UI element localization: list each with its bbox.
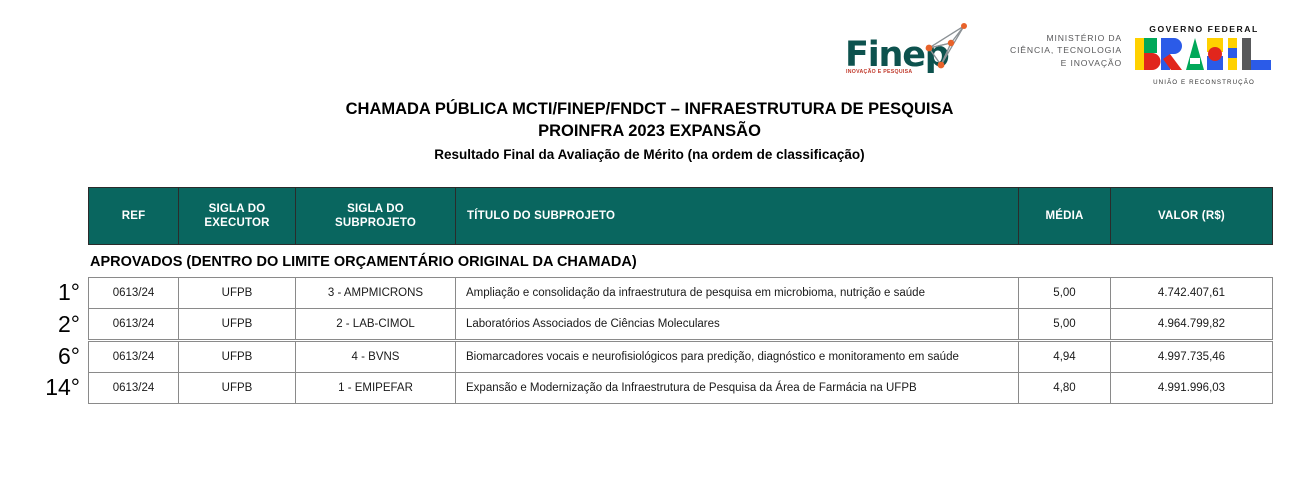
results-table-body: 0613/24UFPB3 - AMPMICRONSAmpliação e con… xyxy=(88,277,1272,404)
page-title: CHAMADA PÚBLICA MCTI/FINEP/FNDCT – INFRA… xyxy=(0,98,1299,120)
cell-executor: UFPB xyxy=(179,309,296,341)
cell-valor: 4.742.407,61 xyxy=(1111,278,1273,309)
cell-valor: 4.997.735,46 xyxy=(1111,341,1273,373)
ministerio-line-1: MINISTÉRIO DA xyxy=(1000,32,1122,44)
brasil-wordmark-icon xyxy=(1133,59,1275,76)
finep-logo: Finep INOVAÇÃO E PESQUISA xyxy=(845,22,965,80)
cell-titulo: Laboratórios Associados de Ciências Mole… xyxy=(456,309,1019,341)
column-header-subprojeto-line1: SIGLA DO xyxy=(302,202,449,216)
table-row[interactable]: 0613/24UFPB3 - AMPMICRONSAmpliação e con… xyxy=(89,278,1273,309)
cell-media: 4,80 xyxy=(1019,373,1111,404)
cell-media: 5,00 xyxy=(1019,309,1111,341)
cell-ref: 0613/24 xyxy=(89,309,179,341)
rank-label: 14° xyxy=(0,372,84,403)
page-subtitle: PROINFRA 2023 EXPANSÃO xyxy=(0,120,1299,142)
cell-titulo: Ampliação e consolidação da infraestrutu… xyxy=(456,278,1019,309)
rank-gutter: 1°2°6°14° xyxy=(0,277,84,403)
cell-ref: 0613/24 xyxy=(89,341,179,373)
table-row[interactable]: 0613/24UFPB1 - EMIPEFARExpansão e Modern… xyxy=(89,373,1273,404)
column-header-executor-line1: SIGLA DO xyxy=(185,202,289,216)
table-header-row: REF SIGLA DO EXECUTOR SIGLA DO SUBPROJET… xyxy=(88,187,1273,245)
rank-label: 2° xyxy=(0,308,84,340)
finep-tagline: INOVAÇÃO E PESQUISA xyxy=(846,70,912,75)
header-logo-strip: Finep INOVAÇÃO E PESQUISA MINISTÉRIO DA … xyxy=(845,18,1275,84)
governo-federal-bottom-text: UNIÃO E RECONSTRUÇÃO xyxy=(1133,79,1275,86)
results-table: 0613/24UFPB3 - AMPMICRONSAmpliação e con… xyxy=(88,277,1273,404)
column-header-subprojeto-sigla: SIGLA DO SUBPROJETO xyxy=(296,188,456,245)
results-table-header: REF SIGLA DO EXECUTOR SIGLA DO SUBPROJET… xyxy=(88,187,1272,245)
section-label-aprovados: APROVADOS (DENTRO DO LIMITE ORÇAMENTÁRIO… xyxy=(90,254,637,270)
rank-label: 6° xyxy=(0,340,84,372)
cell-valor: 4.991.996,03 xyxy=(1111,373,1273,404)
cell-titulo: Expansão e Modernização da Infraestrutur… xyxy=(456,373,1019,404)
column-header-executor: SIGLA DO EXECUTOR xyxy=(179,188,296,245)
ministerio-line-2: CIÊNCIA, TECNOLOGIA xyxy=(1000,44,1122,56)
cell-valor: 4.964.799,82 xyxy=(1111,309,1273,341)
results-table-rows: 0613/24UFPB3 - AMPMICRONSAmpliação e con… xyxy=(89,278,1273,404)
column-header-media: MÉDIA xyxy=(1019,188,1111,245)
cell-subprojeto-sigla: 3 - AMPMICRONS xyxy=(296,278,456,309)
column-header-ref: REF xyxy=(89,188,179,245)
page-description: Resultado Final da Avaliação de Mérito (… xyxy=(0,144,1299,166)
column-header-valor: VALOR (R$) xyxy=(1111,188,1273,245)
ministerio-line-3: E INOVAÇÃO xyxy=(1000,57,1122,69)
column-header-subprojeto-line2: SUBPROJETO xyxy=(302,216,449,230)
cell-executor: UFPB xyxy=(179,278,296,309)
cell-titulo: Biomarcadores vocais e neurofisiológicos… xyxy=(456,341,1019,373)
ministerio-logo: MINISTÉRIO DA CIÊNCIA, TECNOLOGIA E INOV… xyxy=(1000,32,1122,69)
cell-media: 4,94 xyxy=(1019,341,1111,373)
cell-executor: UFPB xyxy=(179,373,296,404)
tetrahedron-network-mark-icon xyxy=(923,22,969,75)
governo-federal-logo: GOVERNO FEDERAL xyxy=(1133,24,1275,86)
cell-subprojeto-sigla: 2 - LAB-CIMOL xyxy=(296,309,456,341)
cell-media: 5,00 xyxy=(1019,278,1111,309)
cell-ref: 0613/24 xyxy=(89,373,179,404)
rank-label: 1° xyxy=(0,277,84,308)
cell-subprojeto-sigla: 4 - BVNS xyxy=(296,341,456,373)
cell-subprojeto-sigla: 1 - EMIPEFAR xyxy=(296,373,456,404)
column-header-titulo: TÍTULO DO SUBPROJETO xyxy=(456,188,1019,245)
document-titles: CHAMADA PÚBLICA MCTI/FINEP/FNDCT – INFRA… xyxy=(0,98,1299,166)
table-row[interactable]: 0613/24UFPB4 - BVNSBiomarcadores vocais … xyxy=(89,341,1273,373)
table-row[interactable]: 0613/24UFPB2 - LAB-CIMOLLaboratórios Ass… xyxy=(89,309,1273,341)
governo-federal-top-text: GOVERNO FEDERAL xyxy=(1133,24,1275,34)
cell-ref: 0613/24 xyxy=(89,278,179,309)
cell-executor: UFPB xyxy=(179,341,296,373)
column-header-executor-line2: EXECUTOR xyxy=(185,216,289,230)
